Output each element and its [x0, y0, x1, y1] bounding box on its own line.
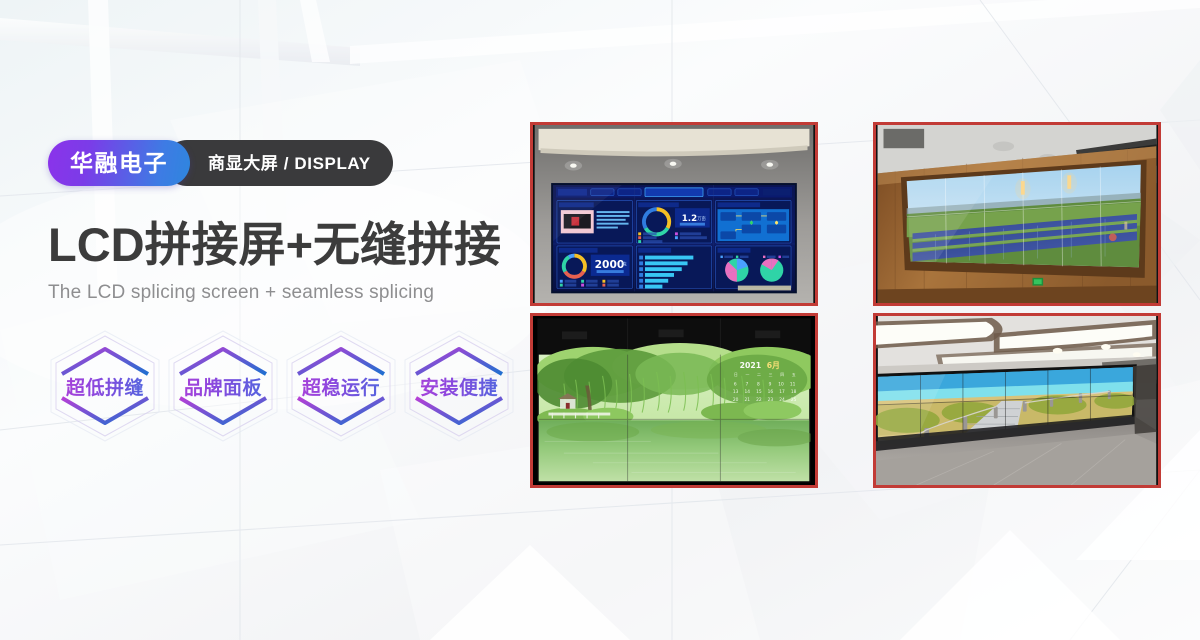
category-pill: 商显大屏 / DISPLAY — [164, 140, 393, 186]
svg-text:三: 三 — [769, 372, 773, 377]
svg-text:23: 23 — [768, 397, 774, 403]
photo-lake-scenery-video-wall[interactable]: 2021 6月 日一二 三四五 678 91011 131415 161718 … — [530, 313, 818, 488]
svg-text:吨: 吨 — [622, 260, 627, 267]
svg-text:13: 13 — [733, 389, 739, 395]
brand-badge-row: 华融电子 商显大屏 / DISPLAY — [48, 140, 518, 186]
svg-text:四: 四 — [780, 372, 784, 377]
svg-text:17: 17 — [779, 389, 785, 395]
page-subtitle: The LCD splicing screen + seamless splic… — [48, 282, 518, 304]
svg-text:14: 14 — [744, 389, 750, 395]
svg-text:万亩: 万亩 — [697, 215, 706, 222]
brand-name-pill: 华融电子 — [48, 140, 190, 186]
svg-text:2000: 2000 — [595, 258, 625, 271]
photo-dashboard-video-wall[interactable]: 1.2 万亩 — [530, 122, 818, 306]
svg-text:6月: 6月 — [767, 361, 780, 370]
feature-badge-0: 超低拼缝 — [46, 330, 164, 442]
svg-text:1.2: 1.2 — [682, 214, 697, 224]
svg-text:11: 11 — [790, 382, 796, 388]
feature-label-2: 超稳运行 — [282, 330, 400, 442]
svg-text:6: 6 — [734, 382, 737, 388]
svg-text:20: 20 — [733, 397, 739, 403]
photo-solar-farm-video-wall[interactable] — [873, 122, 1161, 306]
svg-text:18: 18 — [791, 389, 797, 395]
page-title: LCD拼接屏+无缝拼接 — [48, 220, 518, 269]
feature-label-3: 安装便捷 — [400, 330, 518, 442]
svg-text:日: 日 — [734, 372, 738, 377]
photo-beach-boardwalk-video-wall[interactable] — [873, 313, 1161, 488]
feature-label-1: 品牌面板 — [164, 330, 282, 442]
feature-badge-2: 超稳运行 — [282, 330, 400, 442]
svg-text:7: 7 — [745, 382, 748, 388]
svg-text:10: 10 — [778, 382, 784, 388]
svg-text:16: 16 — [768, 389, 774, 395]
hero-text-column: 华融电子 商显大屏 / DISPLAY LCD拼接屏+无缝拼接 The LCD … — [48, 140, 518, 304]
svg-text:二: 二 — [757, 372, 761, 377]
svg-text:15: 15 — [756, 389, 762, 395]
brand-name-label: 华融电子 — [70, 152, 168, 175]
svg-text:9: 9 — [769, 382, 772, 388]
feature-badge-row: 超低拼缝 品牌面板 超稳运行 — [46, 330, 518, 442]
svg-text:一: 一 — [745, 372, 749, 377]
svg-text:21: 21 — [744, 397, 750, 403]
feature-badge-1: 品牌面板 — [164, 330, 282, 442]
category-label: 商显大屏 / DISPLAY — [208, 155, 371, 172]
svg-text:8: 8 — [757, 382, 760, 388]
feature-badge-3: 安装便捷 — [400, 330, 518, 442]
svg-text:25: 25 — [791, 397, 797, 403]
svg-text:五: 五 — [792, 372, 796, 377]
svg-text:22: 22 — [756, 397, 762, 403]
svg-text:24: 24 — [779, 397, 785, 403]
svg-text:2021: 2021 — [740, 361, 761, 370]
feature-label-0: 超低拼缝 — [46, 330, 164, 442]
